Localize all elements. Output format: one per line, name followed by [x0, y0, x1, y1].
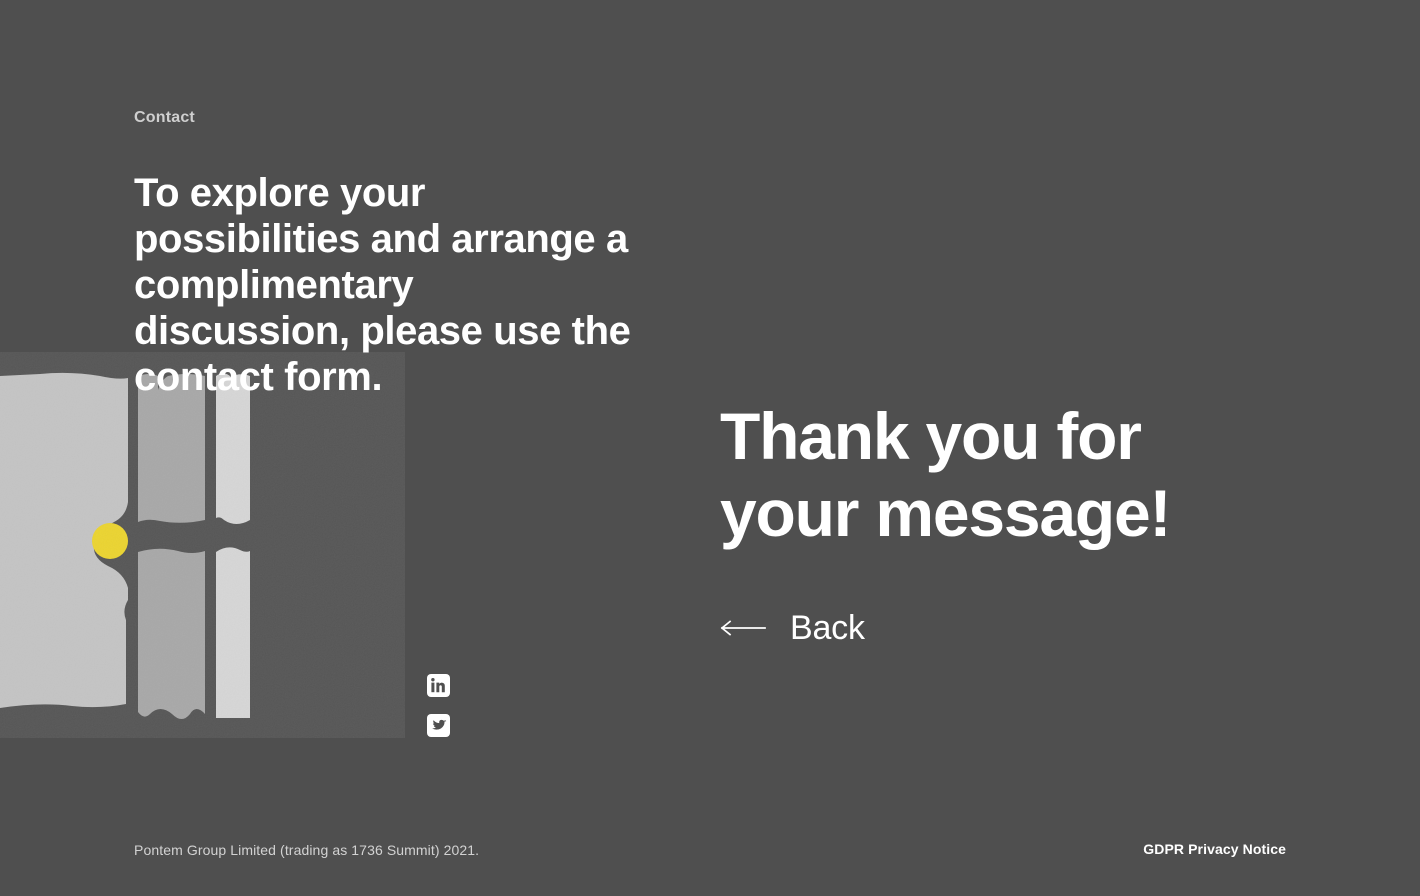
gdpr-privacy-notice-link[interactable]: GDPR Privacy Notice [1143, 840, 1286, 859]
decorative-artwork [0, 352, 405, 738]
twitter-glyph [427, 714, 450, 737]
artwork-shapes [0, 352, 405, 738]
linkedin-glyph [427, 674, 450, 697]
arrow-left-icon [720, 619, 766, 637]
page-eyebrow-label: Contact [134, 108, 694, 128]
social-links [427, 674, 451, 754]
twitter-icon[interactable] [427, 714, 450, 737]
back-link-label: Back [790, 608, 865, 648]
linkedin-icon[interactable] [427, 674, 450, 697]
contact-intro-block: Contact To explore your possibilities an… [134, 108, 694, 400]
contact-thank-you-page: Contact To explore your possibilities an… [0, 0, 1420, 896]
footer-copyright: Pontem Group Limited (trading as 1736 Su… [134, 841, 479, 860]
contact-intro-heading: To explore your possibilities and arrang… [134, 170, 634, 400]
thank-you-heading: Thank you for your message! [720, 398, 1240, 552]
thank-you-block: Thank you for your message! Back [720, 398, 1320, 648]
back-link[interactable]: Back [720, 608, 900, 648]
